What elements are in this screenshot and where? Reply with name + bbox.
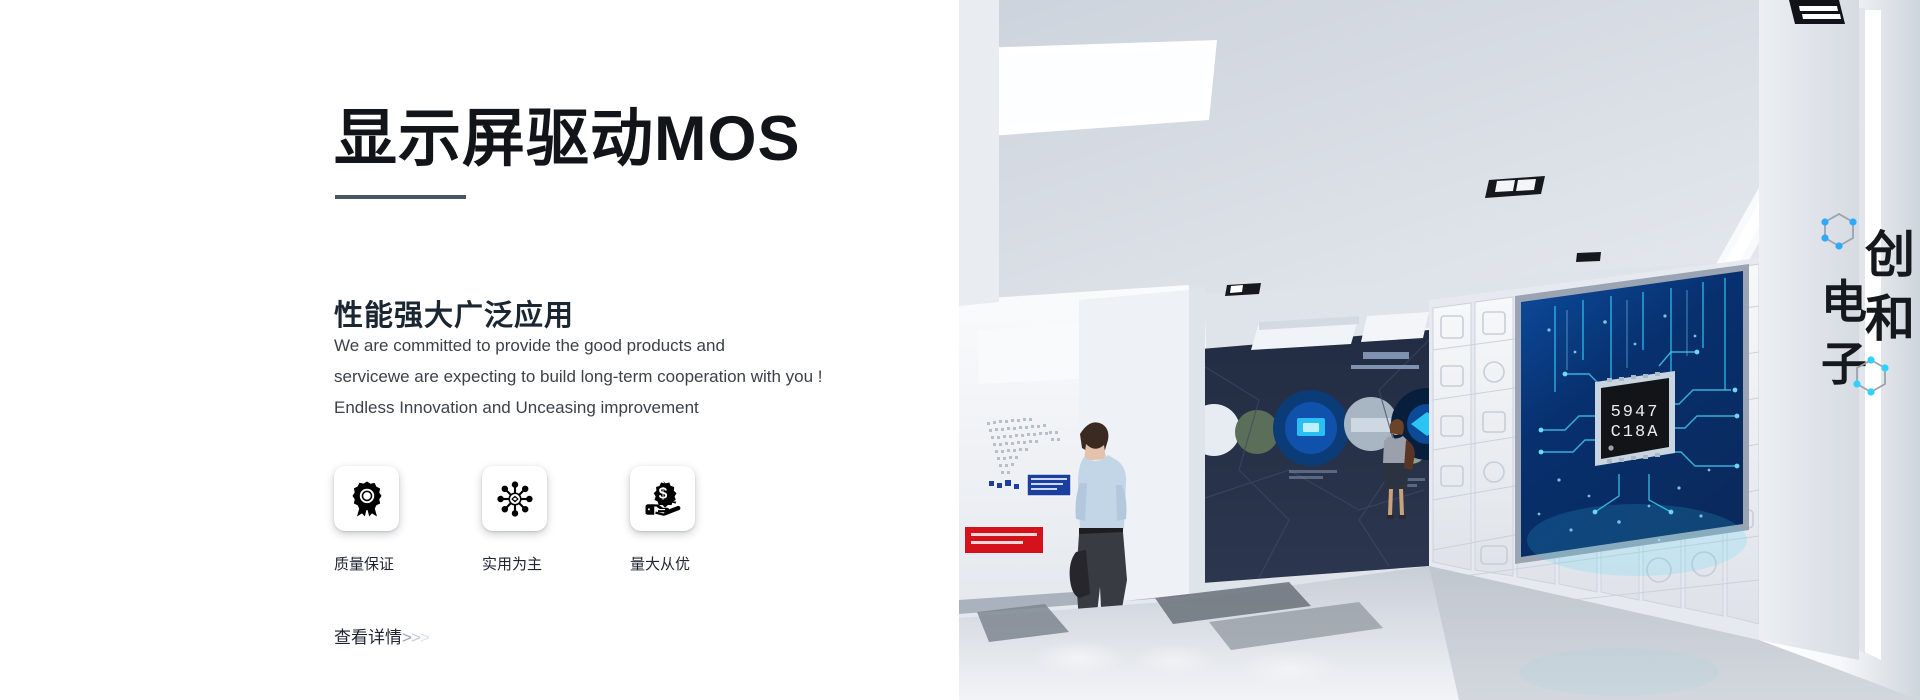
page-subtitle: 性能强大广泛应用 xyxy=(334,292,574,334)
feature-item-practical[interactable]: 实用为主 xyxy=(482,466,570,574)
view-detail-link[interactable]: 查看详情>>> xyxy=(334,623,429,648)
feature-list: 质量保证 xyxy=(334,466,718,574)
ceiling-logo-icon xyxy=(1789,0,1845,24)
chip-label-line1: 5947 xyxy=(1611,403,1660,422)
description-line-2: servicewe are expecting to build long-te… xyxy=(334,361,894,392)
feature-icon-tile: $ xyxy=(630,466,695,531)
feature-label: 实用为主 xyxy=(482,553,542,574)
showroom-illustration: 5947 C18A xyxy=(959,0,1920,700)
wall-sign-char-2: 和 xyxy=(1865,290,1915,348)
view-detail-label: 查看详情 xyxy=(334,628,402,647)
feature-label: 质量保证 xyxy=(334,553,394,574)
description-paragraph: We are committed to provide the good pro… xyxy=(334,330,894,423)
text-panel: 显示屏驱动MOS 性能强大广泛应用 We are committed to pr… xyxy=(0,0,959,700)
page-title: 显示屏驱动MOS xyxy=(334,104,801,175)
showroom-photo: 5947 C18A xyxy=(959,0,1920,700)
wall-sign-char-3: 电 xyxy=(1821,275,1867,329)
svg-text:$: $ xyxy=(658,485,667,502)
feature-label: 量大从优 xyxy=(630,553,690,574)
feature-icon-tile xyxy=(482,466,547,531)
title-divider xyxy=(335,195,466,199)
description-line-1: We are committed to provide the good pro… xyxy=(334,330,894,361)
award-badge-icon xyxy=(347,479,387,519)
feature-item-quality[interactable]: 质量保证 xyxy=(334,466,422,574)
link-arrows-icon: >>> xyxy=(402,628,429,647)
wall-sign-char-1: 创 xyxy=(1865,226,1915,284)
network-hub-icon xyxy=(495,479,535,519)
feature-icon-tile xyxy=(334,466,399,531)
led-display-screen: 5947 C18A xyxy=(1515,264,1749,576)
hand-money-icon: $ xyxy=(643,479,683,519)
description-line-3: Endless Innovation and Unceasing improve… xyxy=(334,392,894,423)
hero-banner: 显示屏驱动MOS 性能强大广泛应用 We are committed to pr… xyxy=(0,0,1920,700)
feature-item-bulk[interactable]: $ 量大从优 xyxy=(630,466,718,574)
chip-label-line2: C18A xyxy=(1611,423,1660,442)
